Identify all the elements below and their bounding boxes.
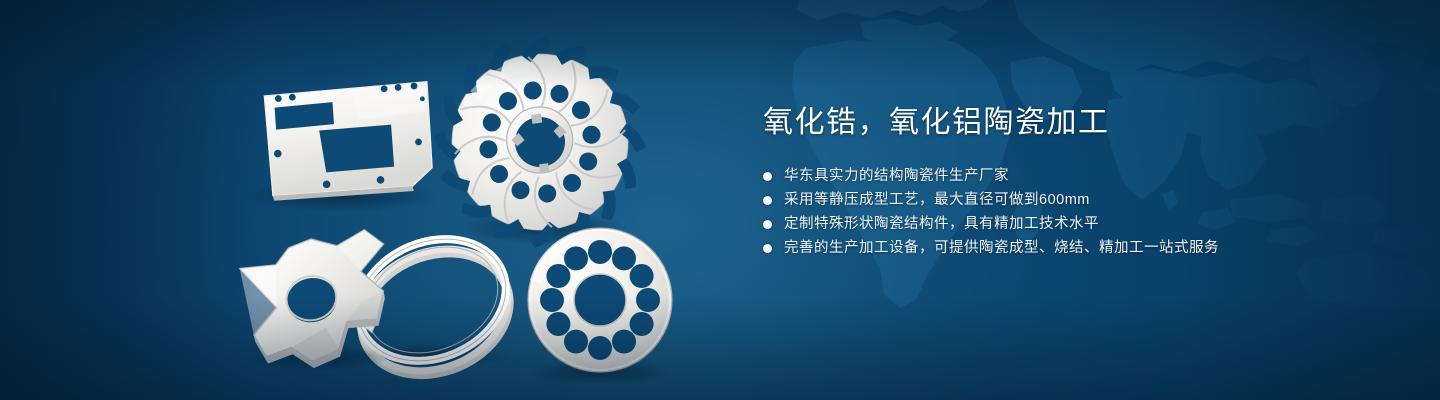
list-item: 定制特殊形状陶瓷结构件，具有精加工技术水平: [763, 212, 1323, 236]
feature-text: 完善的生产加工设备，可提供陶瓷成型、烧结、精加工一站式服务: [784, 236, 1219, 260]
banner-feature-list: 华东具实力的结构陶瓷件生产厂家 采用等静压成型工艺，最大直径可做到600mm 定…: [763, 164, 1323, 260]
list-item: 采用等静压成型工艺，最大直径可做到600mm: [763, 188, 1323, 212]
feature-text: 华东具实力的结构陶瓷件生产厂家: [784, 164, 1009, 188]
bullet-dot-icon: [763, 172, 772, 181]
bullet-dot-icon: [763, 220, 772, 229]
feature-text: 采用等静压成型工艺，最大直径可做到600mm: [784, 188, 1090, 212]
banner-text-column: 氧化锆，氧化铝陶瓷加工 华东具实力的结构陶瓷件生产厂家 采用等静压成型工艺，最大…: [763, 104, 1323, 260]
list-item: 华东具实力的结构陶瓷件生产厂家: [763, 164, 1323, 188]
bullet-dot-icon: [763, 196, 772, 205]
feature-text: 定制特殊形状陶瓷结构件，具有精加工技术水平: [784, 212, 1099, 236]
banner-headline: 氧化锆，氧化铝陶瓷加工: [763, 104, 1323, 142]
list-item: 完善的生产加工设备，可提供陶瓷成型、烧结、精加工一站式服务: [763, 236, 1323, 260]
hero-banner: 氧化锆，氧化铝陶瓷加工 华东具实力的结构陶瓷件生产厂家 采用等静压成型工艺，最大…: [0, 0, 1440, 400]
bullet-dot-icon: [763, 244, 772, 253]
